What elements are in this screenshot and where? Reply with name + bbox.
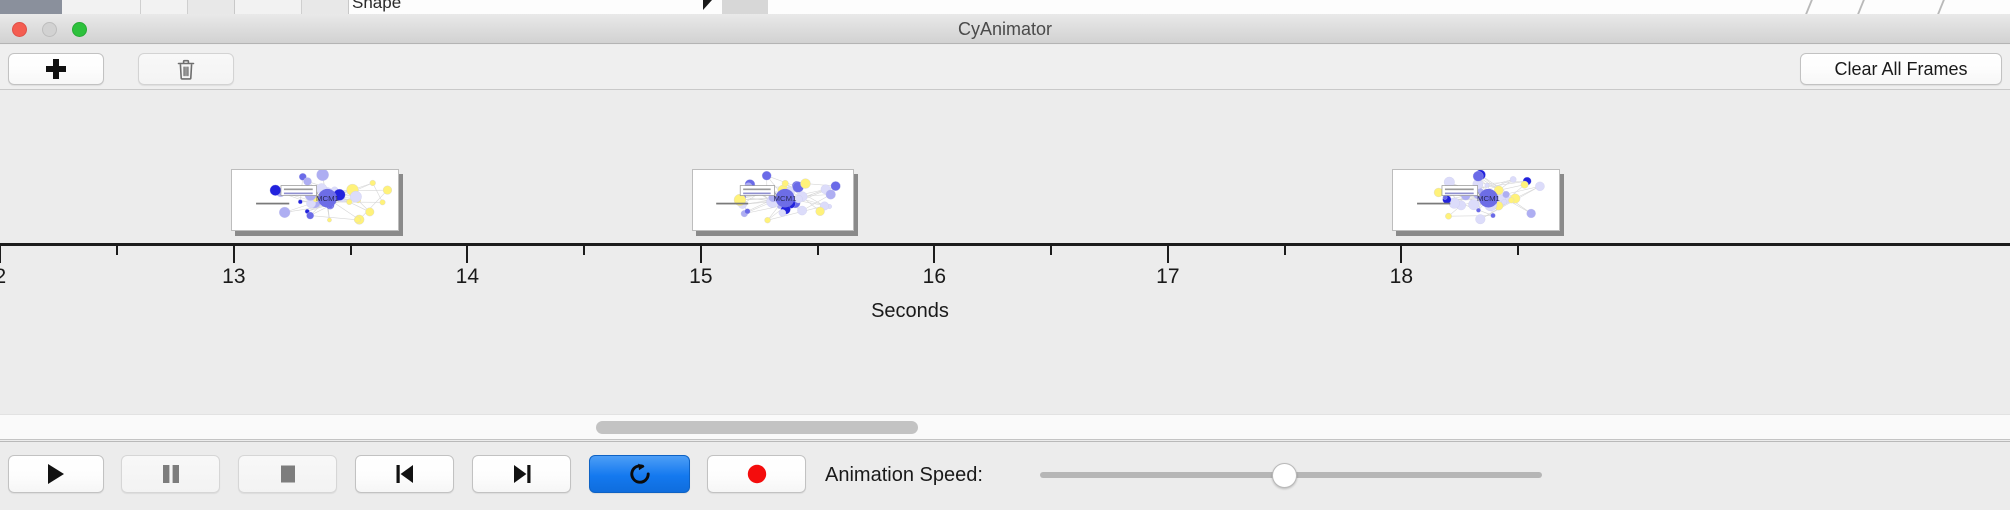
axis-tick-label: 17 xyxy=(1156,265,1179,289)
title-bar: CyAnimator xyxy=(0,14,2010,44)
plus-icon xyxy=(46,59,66,79)
axis-tick-major xyxy=(466,246,468,263)
timeline-axis xyxy=(0,243,2010,246)
stop-icon xyxy=(277,462,299,486)
background-segment xyxy=(722,0,768,14)
clear-all-frames-button[interactable]: Clear All Frames xyxy=(1800,53,2002,85)
frame-thumbnail: MCM1 xyxy=(231,169,399,231)
svg-text:MCM1: MCM1 xyxy=(774,194,797,203)
timeline-frame[interactable]: MCM1 xyxy=(692,169,854,231)
record-icon xyxy=(745,462,769,486)
background-window-strip: Shape xyxy=(0,0,2010,14)
axis-title: Seconds xyxy=(871,300,949,323)
background-segment xyxy=(302,0,349,14)
pause-button xyxy=(121,455,220,493)
axis-tick-major xyxy=(933,246,935,263)
background-curve xyxy=(1857,0,1901,14)
svg-text:MCM1: MCM1 xyxy=(1477,194,1500,203)
background-segment xyxy=(141,0,188,14)
timeline-frame[interactable]: MCM1 xyxy=(1392,169,1560,231)
frame-thumbnail: MCM1 xyxy=(1392,169,1560,231)
loop-button[interactable] xyxy=(589,455,690,493)
axis-tick-minor xyxy=(116,246,118,255)
axis-tick-label: 14 xyxy=(456,265,479,289)
axis-tick-major xyxy=(1167,246,1169,263)
axis-tick-label: 16 xyxy=(923,265,946,289)
skip-back-button[interactable] xyxy=(355,455,454,493)
loop-icon xyxy=(627,461,653,487)
add-frame-button[interactable] xyxy=(8,53,104,85)
axis-tick-minor xyxy=(583,246,585,255)
play-button[interactable] xyxy=(8,455,104,493)
window-title: CyAnimator xyxy=(0,14,2010,44)
axis-tick-major xyxy=(700,246,702,263)
timeline-frame[interactable]: MCM1 xyxy=(231,169,399,231)
skip-forward-button[interactable] xyxy=(472,455,571,493)
play-icon xyxy=(45,462,67,486)
axis-tick-minor xyxy=(1050,246,1052,255)
background-shape-label: Shape xyxy=(352,0,401,13)
background-segment xyxy=(62,0,141,14)
axis-tick-label: 2 xyxy=(0,265,6,289)
timeline-scrollbar[interactable] xyxy=(0,414,2010,440)
timeline-scrollbar-thumb[interactable] xyxy=(596,421,918,434)
record-button[interactable] xyxy=(707,455,806,493)
toolbar: Clear All Frames xyxy=(0,45,2010,90)
background-segment xyxy=(188,0,235,14)
background-segment xyxy=(235,0,302,14)
axis-tick-label: 15 xyxy=(689,265,712,289)
pause-icon xyxy=(160,462,182,486)
axis-tick-major xyxy=(233,246,235,263)
timeline-content: MCM1MCM1MCM12131415161718Seconds xyxy=(0,91,2010,413)
axis-tick-minor xyxy=(817,246,819,255)
axis-tick-label: 18 xyxy=(1390,265,1413,289)
axis-tick-minor xyxy=(350,246,352,255)
axis-tick-minor xyxy=(1517,246,1519,255)
timeline-panel[interactable]: MCM1MCM1MCM12131415161718Seconds xyxy=(0,91,2010,413)
background-tab-active xyxy=(0,0,62,14)
svg-text:MCM1: MCM1 xyxy=(316,194,339,203)
trash-icon xyxy=(176,59,196,80)
delete-frame-button[interactable] xyxy=(138,53,234,85)
background-cursor-icon xyxy=(703,0,712,10)
background-curve xyxy=(1805,0,1849,14)
axis-tick-label: 13 xyxy=(222,265,245,289)
axis-tick-major xyxy=(1400,246,1402,263)
stop-button xyxy=(238,455,337,493)
background-curve xyxy=(1937,0,1981,14)
axis-tick-minor xyxy=(1284,246,1286,255)
animation-speed-label: Animation Speed: xyxy=(825,464,983,487)
skip-forward-icon xyxy=(510,462,534,486)
clear-all-frames-label: Clear All Frames xyxy=(1834,59,1967,80)
animation-speed-slider-thumb[interactable] xyxy=(1272,463,1297,488)
skip-back-icon xyxy=(393,462,417,486)
frame-thumbnail: MCM1 xyxy=(692,169,854,231)
cyanimator-window: Shape CyAnimator Clear All Frames xyxy=(0,0,2010,510)
axis-tick-major xyxy=(0,246,1,263)
playback-bar: Animation Speed: xyxy=(0,441,2010,510)
